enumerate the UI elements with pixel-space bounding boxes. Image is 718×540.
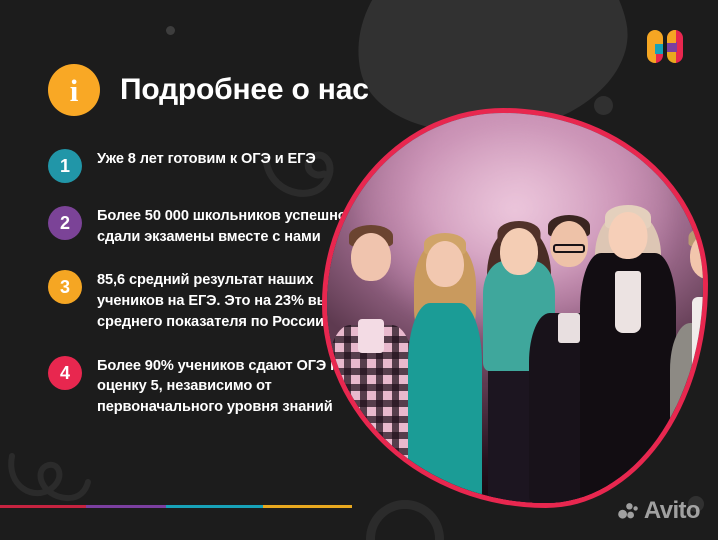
team-photo [322, 108, 708, 508]
team-photo-frame [322, 108, 708, 508]
benefits-list: 1 Уже 8 лет готовим к ОГЭ и ЕГЭ 2 Более … [48, 148, 360, 440]
avito-dots-icon [618, 503, 638, 519]
list-item-text: Уже 8 лет готовим к ОГЭ и ЕГЭ [97, 148, 316, 170]
accent-bar-segment [166, 505, 263, 508]
accent-bar [0, 505, 352, 508]
list-number-badge: 4 [48, 356, 82, 390]
info-icon: i [48, 64, 100, 116]
list-item: 2 Более 50 000 школьников успешно сдали … [48, 205, 360, 247]
list-number-badge: 3 [48, 270, 82, 304]
list-item-text: Более 90% учеников сдают ОГЭ на оценку 5… [97, 355, 360, 418]
list-item-text: 85,6 средний результат наших учеников на… [97, 269, 360, 332]
list-number: 4 [60, 364, 70, 382]
list-item: 1 Уже 8 лет готовим к ОГЭ и ЕГЭ [48, 148, 360, 183]
list-number: 3 [60, 278, 70, 296]
page-title: Подробнее о нас [120, 73, 369, 107]
list-number: 2 [60, 214, 70, 232]
decorative-swirl-bottom-icon [4, 440, 114, 512]
list-item: 3 85,6 средний результат наших учеников … [48, 269, 360, 332]
list-item-text: Более 50 000 школьников успешно сдали эк… [97, 205, 360, 247]
info-icon-glyph: i [70, 75, 79, 106]
team-photo-image [327, 113, 703, 503]
accent-bar-segment [0, 505, 86, 508]
slide-canvas: i Подробнее о нас 1 Уже 8 лет готовим к … [0, 0, 718, 540]
slide-header: i Подробнее о нас [48, 64, 369, 116]
list-number-badge: 2 [48, 206, 82, 240]
list-number-badge: 1 [48, 149, 82, 183]
list-number: 1 [60, 157, 70, 175]
brand-logo [647, 30, 689, 63]
decorative-dot-small [166, 26, 175, 35]
list-item: 4 Более 90% учеников сдают ОГЭ на оценку… [48, 355, 360, 418]
accent-bar-segment [86, 505, 166, 508]
